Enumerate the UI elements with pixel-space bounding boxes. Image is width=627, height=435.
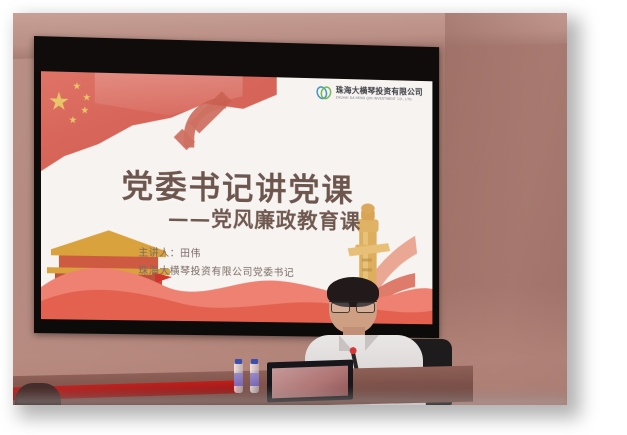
glasses-icon (329, 301, 377, 311)
shirt-collar-right (365, 335, 379, 351)
logo-company-name-en: ZHUHAI DA HENG QIN INVESTMENT CO., LTD. (336, 96, 423, 101)
photo-frame: 珠海大横琴投资有限公司 ZHUHAI DA HENG QIN INVESTMEN… (0, 0, 627, 435)
bottle-cap (235, 359, 242, 364)
bottle-cap (251, 359, 258, 364)
hammer-and-sickle-icon (170, 88, 243, 161)
slide-presenter-block: 主讲人：田伟 珠海大横琴投资有限公司党委书记 (138, 245, 294, 282)
flag-star-small (81, 106, 89, 114)
bottle-label (250, 373, 259, 386)
foreground-blur (13, 387, 567, 405)
flag-star-large (49, 91, 69, 111)
bottle-label (234, 373, 243, 386)
photograph: 珠海大横琴投资有限公司 ZHUHAI DA HENG QIN INVESTMEN… (13, 13, 567, 405)
flag-star-small (73, 82, 81, 90)
interlocking-loops-icon (315, 84, 331, 101)
presenter-title-line: 珠海大横琴投资有限公司党委书记 (138, 262, 294, 282)
flag-star-small (83, 93, 91, 101)
presenter-name-line: 主讲人：田伟 (138, 245, 294, 265)
flag-star-small (69, 116, 77, 124)
company-logo: 珠海大横琴投资有限公司 ZHUHAI DA HENG QIN INVESTMEN… (315, 84, 422, 103)
